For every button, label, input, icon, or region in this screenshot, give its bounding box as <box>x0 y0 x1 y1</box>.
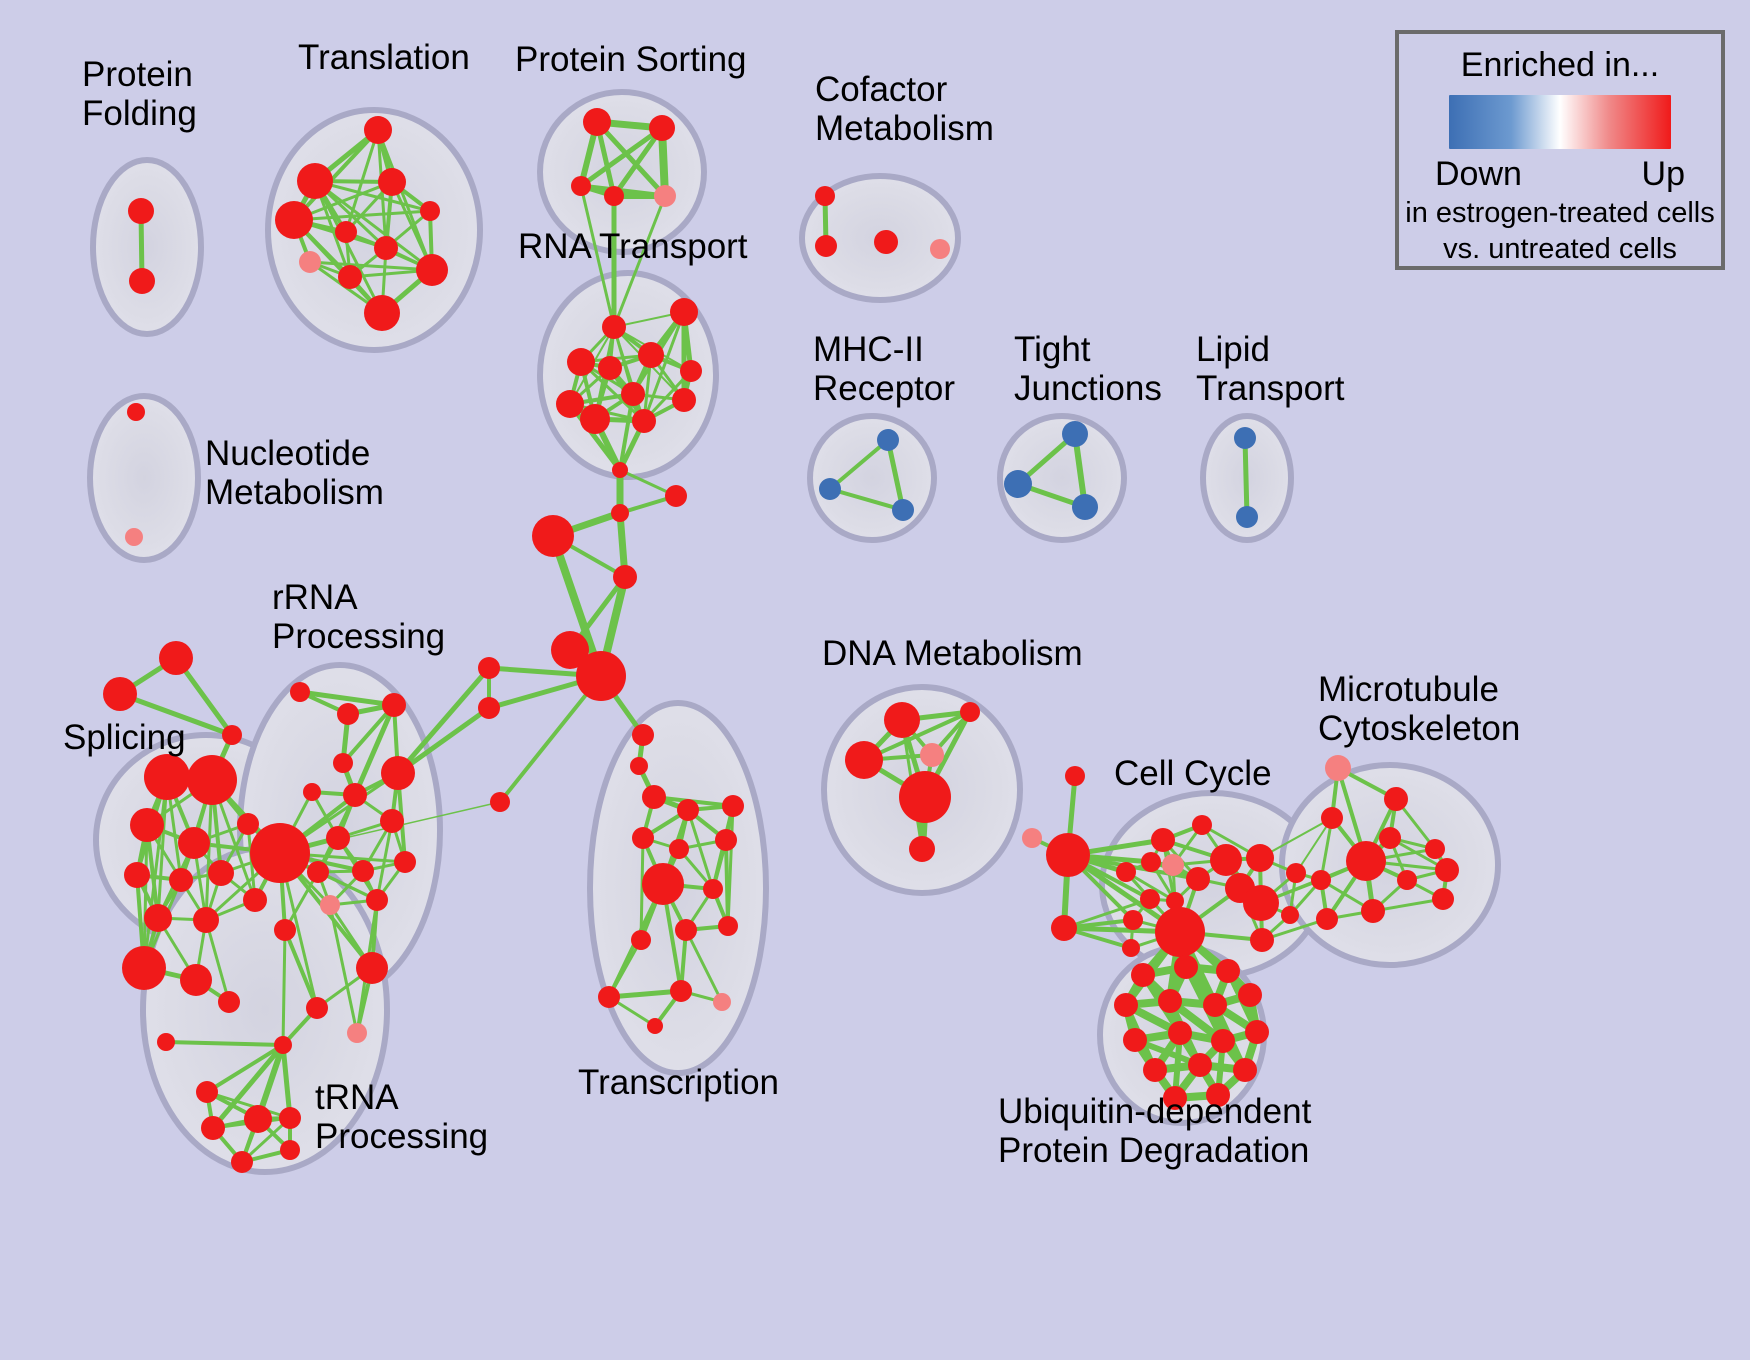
network-node[interactable] <box>333 753 353 773</box>
legend-down-label: Down <box>1435 155 1522 194</box>
network-node[interactable] <box>307 861 329 883</box>
network-node[interactable] <box>1238 983 1262 1007</box>
network-node[interactable] <box>877 429 899 451</box>
network-node[interactable] <box>1143 1058 1167 1082</box>
network-node[interactable] <box>364 295 400 331</box>
network-node[interactable] <box>144 754 190 800</box>
network-node[interactable] <box>237 813 259 835</box>
network-node[interactable] <box>612 462 628 478</box>
network-node[interactable] <box>364 116 392 144</box>
network-node[interactable] <box>381 756 415 790</box>
network-node[interactable] <box>193 907 219 933</box>
network-node[interactable] <box>382 693 406 717</box>
network-node[interactable] <box>208 860 234 886</box>
network-node[interactable] <box>1321 807 1343 829</box>
network-node[interactable] <box>1158 989 1182 1013</box>
network-node[interactable] <box>1140 889 1160 909</box>
network-node[interactable] <box>280 1140 300 1160</box>
network-node[interactable] <box>670 298 698 326</box>
network-node[interactable] <box>250 823 310 883</box>
network-node[interactable] <box>1286 863 1306 883</box>
network-node[interactable] <box>649 115 675 141</box>
network-edge <box>283 930 285 1045</box>
network-node[interactable] <box>274 919 296 941</box>
network-node[interactable] <box>718 916 738 936</box>
network-node[interactable] <box>1123 1028 1147 1052</box>
network-node[interactable] <box>815 186 835 206</box>
network-node[interactable] <box>845 741 883 779</box>
network-node[interactable] <box>1131 963 1155 987</box>
network-node[interactable] <box>1122 939 1140 957</box>
network-node[interactable] <box>1346 841 1386 881</box>
network-node[interactable] <box>380 809 404 833</box>
network-node[interactable] <box>303 783 321 801</box>
network-node[interactable] <box>180 964 212 996</box>
network-node[interactable] <box>1203 993 1227 1017</box>
network-node[interactable] <box>279 1107 301 1129</box>
network-node[interactable] <box>532 515 574 557</box>
network-node[interactable] <box>665 485 687 507</box>
cluster-label-protein-folding: Protein Folding <box>82 55 197 133</box>
network-node[interactable] <box>125 528 143 546</box>
network-node[interactable] <box>1123 910 1143 930</box>
network-node[interactable] <box>722 795 744 817</box>
network-node[interactable] <box>677 799 699 821</box>
network-node[interactable] <box>632 724 654 746</box>
cluster-label-mhc-ii-receptor: MHC-II Receptor <box>813 330 955 408</box>
network-node[interactable] <box>420 201 440 221</box>
cluster-label-microtubule-cytoskeleton: Microtubule Cytoskeleton <box>1318 670 1520 748</box>
network-node[interactable] <box>103 677 137 711</box>
cluster-label-translation: Translation <box>298 38 470 77</box>
network-node[interactable] <box>337 703 359 725</box>
network-node[interactable] <box>631 930 651 950</box>
network-node[interactable] <box>129 268 155 294</box>
network-node[interactable] <box>128 198 154 224</box>
network-node[interactable] <box>222 725 242 745</box>
network-node[interactable] <box>1311 870 1331 890</box>
network-node[interactable] <box>338 265 362 289</box>
network-node[interactable] <box>218 991 240 1013</box>
network-node[interactable] <box>490 792 510 812</box>
legend-title: Enriched in... <box>1461 46 1659 85</box>
network-node[interactable] <box>1174 955 1198 979</box>
network-node[interactable] <box>1243 885 1279 921</box>
network-node[interactable] <box>1188 1053 1212 1077</box>
network-node[interactable] <box>960 702 980 722</box>
network-node[interactable] <box>1425 839 1445 859</box>
network-node[interactable] <box>1216 959 1240 983</box>
network-node[interactable] <box>621 382 645 406</box>
network-node[interactable] <box>1155 907 1205 957</box>
network-node[interactable] <box>1168 1021 1192 1045</box>
network-node[interactable] <box>703 879 723 899</box>
network-node[interactable] <box>187 755 237 805</box>
network-node[interactable] <box>630 757 648 775</box>
network-node[interactable] <box>1234 427 1256 449</box>
network-node[interactable] <box>670 980 692 1002</box>
network-node[interactable] <box>320 895 340 915</box>
network-node[interactable] <box>231 1151 253 1173</box>
network-node[interactable] <box>201 1116 225 1140</box>
network-node[interactable] <box>1281 906 1299 924</box>
network-node[interactable] <box>306 997 328 1019</box>
network-node[interactable] <box>178 827 210 859</box>
cluster-label-transcription: Transcription <box>578 1063 779 1102</box>
network-node[interactable] <box>598 356 622 380</box>
legend-box: Enriched in... Down Up in estrogen-treat… <box>1395 30 1725 270</box>
network-node[interactable] <box>613 565 637 589</box>
network-node[interactable] <box>1116 862 1136 882</box>
network-node[interactable] <box>1022 828 1042 848</box>
network-node[interactable] <box>892 499 914 521</box>
network-node[interactable] <box>1114 993 1138 1017</box>
network-node[interactable] <box>416 254 448 286</box>
network-node[interactable] <box>1233 1058 1257 1082</box>
network-node[interactable] <box>1245 1020 1269 1044</box>
network-node[interactable] <box>580 404 610 434</box>
network-node[interactable] <box>297 163 333 199</box>
network-node[interactable] <box>642 785 666 809</box>
legend-colorbar <box>1449 95 1671 149</box>
network-node[interactable] <box>1236 506 1258 528</box>
network-node[interactable] <box>647 1018 663 1034</box>
network-node[interactable] <box>1162 854 1184 876</box>
cluster-label-tight-junctions: Tight Junctions <box>1014 330 1162 408</box>
network-edge <box>726 840 728 926</box>
network-node[interactable] <box>654 185 676 207</box>
network-node[interactable] <box>556 390 584 418</box>
network-node[interactable] <box>1151 828 1175 852</box>
network-node[interactable] <box>669 839 689 859</box>
cluster-label-rrna-processing: rRNA Processing <box>272 578 445 656</box>
network-node[interactable] <box>1192 815 1212 835</box>
network-edge <box>1245 438 1247 517</box>
network-node[interactable] <box>819 478 841 500</box>
cluster-hull-mhc-ii-receptor <box>810 416 934 540</box>
cluster-label-cell-cycle: Cell Cycle <box>1114 754 1272 793</box>
network-node[interactable] <box>127 403 145 421</box>
network-node[interactable] <box>1250 928 1274 952</box>
network-node[interactable] <box>243 888 267 912</box>
network-node[interactable] <box>1211 1029 1235 1053</box>
cluster-label-ubiquitin-degradation: Ubiquitin-dependent Protein Degradation <box>998 1092 1311 1170</box>
network-node[interactable] <box>899 771 951 823</box>
network-node[interactable] <box>326 826 350 850</box>
network-node[interactable] <box>1361 899 1385 923</box>
cluster-label-cofactor-metabolism: Cofactor Metabolism <box>815 70 994 148</box>
network-node[interactable] <box>598 986 620 1008</box>
network-node[interactable] <box>144 904 172 932</box>
network-node[interactable] <box>632 409 656 433</box>
legend-subtitle-line2: vs. untreated cells <box>1443 232 1677 266</box>
network-node[interactable] <box>715 829 737 851</box>
cluster-hull-nucleotide-metabolism <box>90 396 198 560</box>
network-node[interactable] <box>632 827 654 849</box>
network-node[interactable] <box>1435 858 1459 882</box>
network-node[interactable] <box>196 1081 218 1103</box>
network-node[interactable] <box>122 946 166 990</box>
network-node[interactable] <box>1316 908 1338 930</box>
cluster-label-dna-metabolism: DNA Metabolism <box>822 634 1083 673</box>
network-node[interactable] <box>169 868 193 892</box>
legend-subtitle-line1: in estrogen-treated cells <box>1405 196 1715 230</box>
cluster-label-splicing: Splicing <box>63 718 186 757</box>
network-node[interactable] <box>604 186 624 206</box>
network-node[interactable] <box>930 239 950 259</box>
network-node[interactable] <box>1004 470 1032 498</box>
network-node[interactable] <box>394 851 416 873</box>
network-node[interactable] <box>642 863 684 905</box>
network-node[interactable] <box>672 388 696 412</box>
network-node[interactable] <box>1325 755 1351 781</box>
network-node[interactable] <box>1210 844 1242 876</box>
network-node[interactable] <box>1397 870 1417 890</box>
network-node[interactable] <box>274 1036 292 1054</box>
network-node[interactable] <box>299 251 321 273</box>
cluster-label-trna-processing: tRNA Processing <box>315 1078 488 1156</box>
network-node[interactable] <box>335 221 357 243</box>
network-node[interactable] <box>275 201 313 239</box>
network-figure: Protein FoldingTranslationProtein Sortin… <box>0 0 1750 1360</box>
network-node[interactable] <box>874 230 898 254</box>
network-node[interactable] <box>884 702 920 738</box>
network-node[interactable] <box>130 808 164 842</box>
network-node[interactable] <box>1186 867 1210 891</box>
network-node[interactable] <box>374 236 398 260</box>
network-node[interactable] <box>1384 787 1408 811</box>
network-node[interactable] <box>1046 833 1090 877</box>
network-node[interactable] <box>611 504 629 522</box>
network-node[interactable] <box>1051 915 1077 941</box>
network-node[interactable] <box>567 348 595 376</box>
legend-endpoints: Down Up <box>1435 155 1685 194</box>
network-node[interactable] <box>571 176 591 196</box>
network-node[interactable] <box>157 1033 175 1051</box>
network-node[interactable] <box>378 168 406 196</box>
network-node[interactable] <box>638 342 664 368</box>
network-node[interactable] <box>366 889 388 911</box>
network-node[interactable] <box>675 919 697 941</box>
network-node[interactable] <box>680 360 702 382</box>
network-node[interactable] <box>1141 852 1161 872</box>
network-node[interactable] <box>347 1023 367 1043</box>
network-node[interactable] <box>159 641 193 675</box>
network-node[interactable] <box>343 783 367 807</box>
network-node[interactable] <box>583 108 611 136</box>
network-node[interactable] <box>1379 827 1401 849</box>
network-node[interactable] <box>244 1105 272 1133</box>
network-node[interactable] <box>478 657 500 679</box>
cluster-label-rna-transport: RNA Transport <box>518 227 748 266</box>
cluster-label-lipid-transport: Lipid Transport <box>1196 330 1344 408</box>
legend-up-label: Up <box>1642 155 1685 194</box>
network-node[interactable] <box>478 697 500 719</box>
network-node[interactable] <box>124 862 150 888</box>
network-node[interactable] <box>909 836 935 862</box>
network-node[interactable] <box>290 682 310 702</box>
network-node[interactable] <box>356 952 388 984</box>
network-node[interactable] <box>1432 888 1454 910</box>
network-node[interactable] <box>352 860 374 882</box>
network-node[interactable] <box>713 993 731 1011</box>
cluster-hull-protein-folding <box>93 160 201 334</box>
network-node[interactable] <box>920 743 944 767</box>
network-node[interactable] <box>1062 421 1088 447</box>
network-node[interactable] <box>576 651 626 701</box>
network-node[interactable] <box>1065 766 1085 786</box>
network-node[interactable] <box>1246 844 1274 872</box>
cluster-label-protein-sorting: Protein Sorting <box>515 40 747 79</box>
network-node[interactable] <box>602 315 626 339</box>
network-node[interactable] <box>815 235 837 257</box>
cluster-label-nucleotide-metabolism: Nucleotide Metabolism <box>205 434 384 512</box>
network-node[interactable] <box>1072 494 1098 520</box>
